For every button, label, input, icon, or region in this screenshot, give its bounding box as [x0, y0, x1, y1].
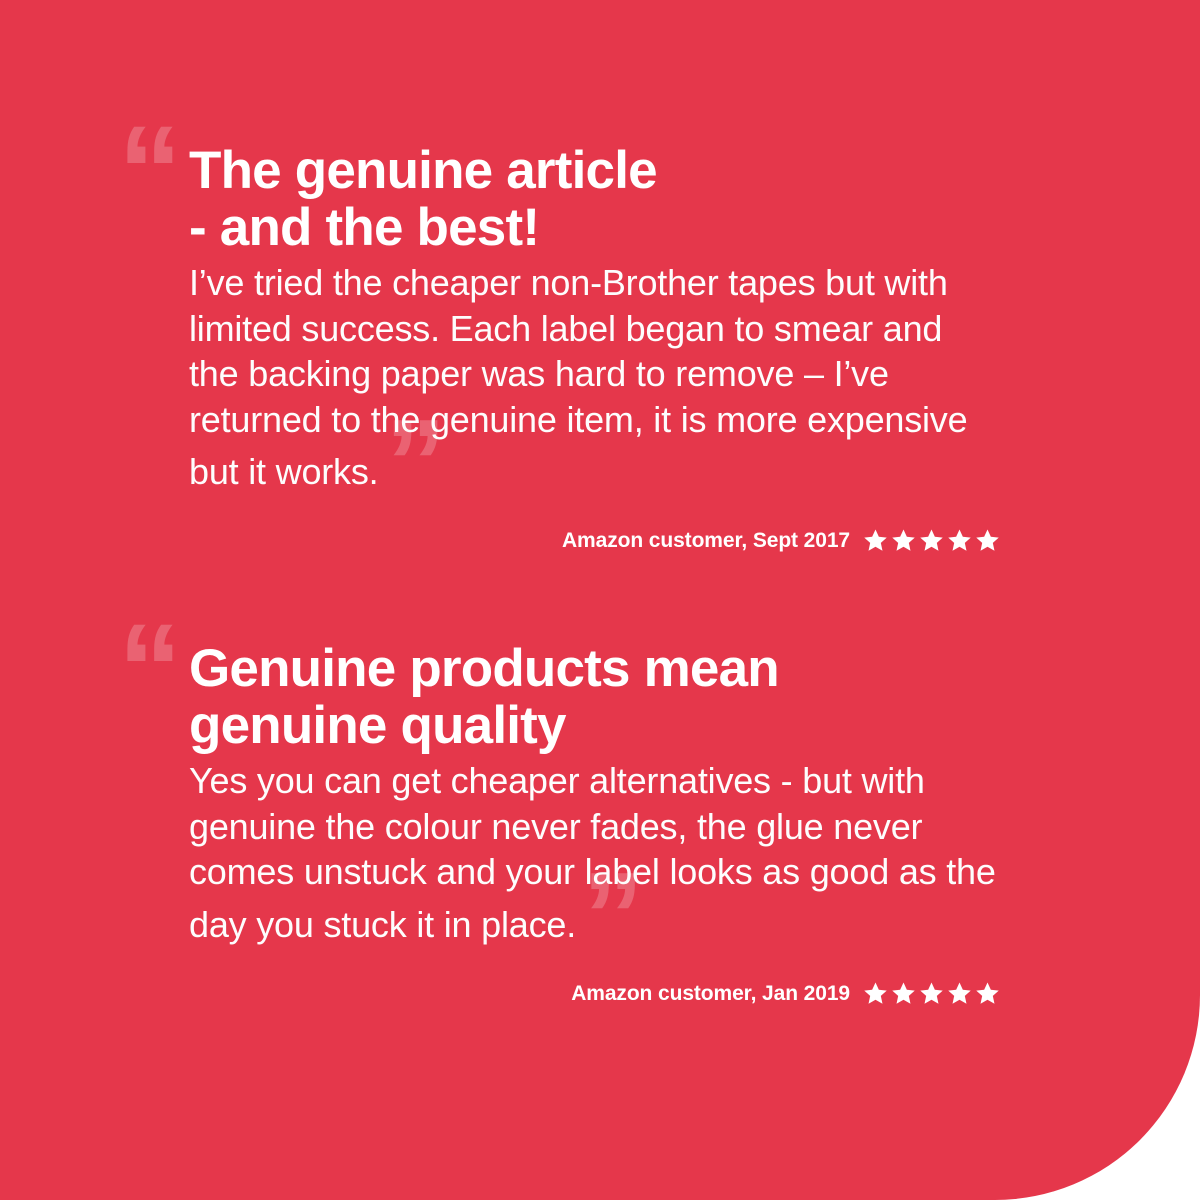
review-1-attribution-row: Amazon customer, Sept 2017 [189, 528, 1000, 553]
star-icon [947, 981, 972, 1006]
star-icon [891, 981, 916, 1006]
review-1-body-text: I’ve tried the cheaper non-Brother tapes… [189, 262, 967, 492]
star-icon [975, 981, 1000, 1006]
review-2-heading: Genuine products mean genuine quality [189, 640, 999, 754]
star-icon [863, 528, 888, 553]
star-icon [947, 528, 972, 553]
review-2-attribution-label: Amazon customer, Jan 2019 [571, 982, 850, 1006]
review-2-star-rating [863, 981, 1000, 1006]
star-icon [863, 981, 888, 1006]
star-icon [975, 528, 1000, 553]
review-card-canvas: “ The genuine article - and the best! I’… [0, 0, 1200, 1200]
star-icon [891, 528, 916, 553]
review-1-star-rating [863, 528, 1000, 553]
star-icon [919, 981, 944, 1006]
review-2-attribution-row: Amazon customer, Jan 2019 [189, 981, 1000, 1006]
review-1-heading: The genuine article - and the best! [189, 142, 999, 256]
review-1-body: I’ve tried the cheaper non-Brother tapes… [189, 260, 999, 495]
review-2-body: Yes you can get cheaper alternatives - b… [189, 758, 999, 947]
review-1-attribution-label: Amazon customer, Sept 2017 [562, 529, 850, 553]
review-1-content: The genuine article - and the best! I’ve… [189, 142, 999, 495]
review-2-body-text: Yes you can get cheaper alternatives - b… [189, 760, 996, 945]
star-icon [919, 528, 944, 553]
review-2-content: Genuine products mean genuine quality Ye… [189, 640, 999, 947]
